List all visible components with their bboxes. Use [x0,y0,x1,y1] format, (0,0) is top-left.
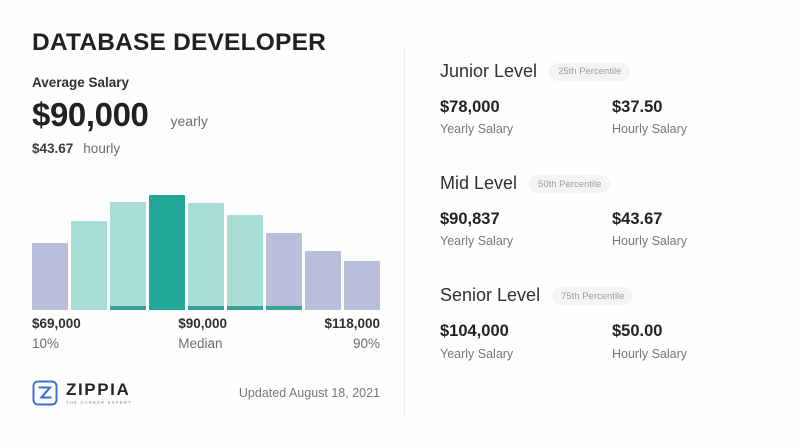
axis-label-high-value: $118,000 [324,314,380,334]
chart-bar-accent [188,306,224,310]
axis-label-low-sub: 10% [32,334,81,354]
average-salary-yearly: $90,000 yearly [32,96,374,134]
updated-date: Updated August 18, 2021 [239,386,380,400]
chart-bar [32,243,68,310]
percentile-badge: 25th Percentile [549,63,630,81]
average-salary-label: Average Salary [32,75,374,90]
salary-column: $104,000Yearly Salary [440,321,604,360]
chart-bar [227,215,263,310]
chart-axis-labels: $69,000 10% $90,000 Median $118,000 90% [32,314,380,353]
level-salary-row: $78,000Yearly Salary$37.50Hourly Salary [440,97,776,136]
chart-bar [188,203,224,310]
level-salary-row: $90,837Yearly Salary$43.67Hourly Salary [440,209,776,248]
chart-bar-accent [266,306,302,310]
axis-label-low-value: $69,000 [32,314,81,334]
yearly-salary-amount: $104,000 [440,321,604,342]
chart-bar-accent [110,306,146,310]
chart-bar-wrap [32,188,68,310]
zippia-logo-text: ZIPPIA THE CAREER EXPERT [66,381,132,405]
chart-bar [305,251,341,310]
yearly-salary-amount: $78,000 [440,97,604,118]
salary-info-card: DATABASE DEVELOPER Average Salary $90,00… [0,0,800,448]
level-block: Mid Level50th Percentile$90,837Yearly Sa… [440,174,776,248]
hourly-salary-amount: $50.00 [612,321,776,342]
average-hourly-amount: $43.67 [32,141,73,156]
levels-panel: Junior Level25th Percentile$78,000Yearly… [404,0,800,448]
percentile-badge: 75th Percentile [552,287,633,305]
level-name: Junior Level [440,62,537,82]
salary-column: $90,837Yearly Salary [440,209,604,248]
yearly-salary-amount: $90,837 [440,209,604,230]
hourly-salary-amount: $43.67 [612,209,776,230]
zippia-logo[interactable]: ZIPPIA THE CAREER EXPERT [32,380,132,406]
chart-bar-wrap [227,188,263,310]
level-name: Senior Level [440,286,540,306]
chart-bar-wrap [344,188,380,310]
hourly-salary-caption: Hourly Salary [612,122,776,136]
zippia-wordmark: ZIPPIA [66,381,132,398]
average-yearly-amount: $90,000 [32,96,149,134]
level-name: Mid Level [440,174,517,194]
footer: ZIPPIA THE CAREER EXPERT Updated August … [32,380,380,406]
level-header: Junior Level25th Percentile [440,62,776,82]
hourly-salary-amount: $37.50 [612,97,776,118]
page-title: DATABASE DEVELOPER [32,30,374,57]
chart-bar [71,221,107,310]
average-hourly-period: hourly [83,141,120,156]
chart-bar [344,261,380,310]
zippia-tagline: THE CAREER EXPERT [66,401,132,405]
left-panel: DATABASE DEVELOPER Average Salary $90,00… [0,0,404,448]
chart-bar [110,202,146,310]
axis-label-median: $90,000 Median [178,314,227,353]
hourly-salary-caption: Hourly Salary [612,234,776,248]
level-header: Mid Level50th Percentile [440,174,776,194]
chart-bar-wrap [188,188,224,310]
salary-column: $37.50Hourly Salary [604,97,776,136]
percentile-badge: 50th Percentile [529,175,610,193]
axis-label-high: $118,000 90% [324,314,380,353]
salary-column: $43.67Hourly Salary [604,209,776,248]
salary-distribution-chart [32,188,380,310]
level-block: Senior Level75th Percentile$104,000Yearl… [440,286,776,360]
chart-bar-wrap [149,188,185,310]
axis-label-median-value: $90,000 [178,314,227,334]
chart-bar-wrap [305,188,341,310]
yearly-salary-caption: Yearly Salary [440,347,604,361]
zippia-logo-icon [32,380,58,406]
average-yearly-period: yearly [171,113,208,129]
chart-bar-wrap [266,188,302,310]
chart-bar-wrap [71,188,107,310]
axis-label-low: $69,000 10% [32,314,81,353]
salary-column: $78,000Yearly Salary [440,97,604,136]
yearly-salary-caption: Yearly Salary [440,122,604,136]
level-block: Junior Level25th Percentile$78,000Yearly… [440,62,776,136]
chart-bar-highlighted [149,195,185,310]
level-header: Senior Level75th Percentile [440,286,776,306]
chart-bar [266,233,302,310]
average-salary-hourly: $43.67 hourly [32,141,374,156]
axis-label-high-sub: 90% [353,334,380,354]
yearly-salary-caption: Yearly Salary [440,234,604,248]
salary-column: $50.00Hourly Salary [604,321,776,360]
hourly-salary-caption: Hourly Salary [612,347,776,361]
chart-bar-wrap [110,188,146,310]
chart-bar-accent [227,306,263,310]
axis-label-median-sub: Median [178,334,222,354]
level-salary-row: $104,000Yearly Salary$50.00Hourly Salary [440,321,776,360]
